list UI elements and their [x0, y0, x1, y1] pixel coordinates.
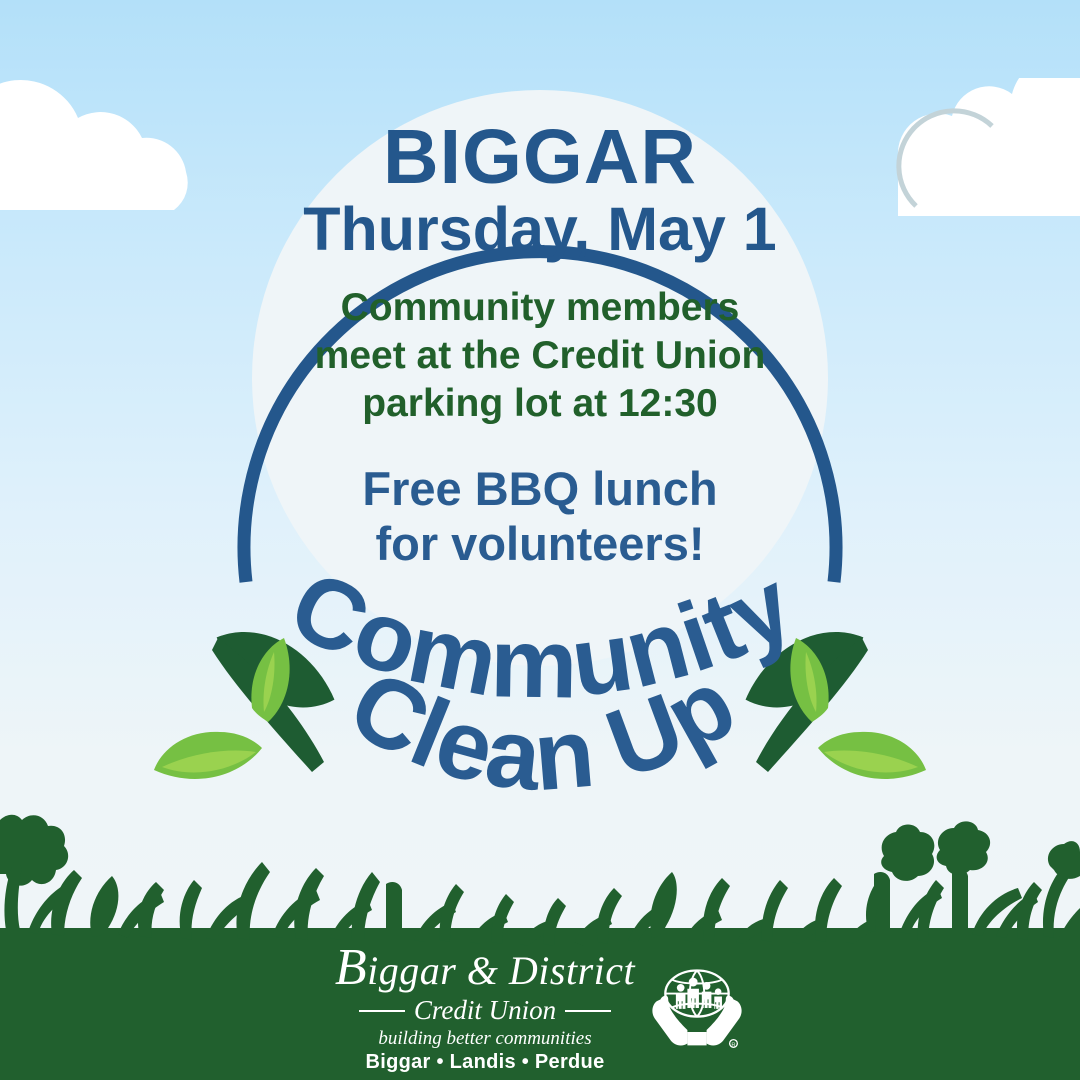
org-name-initial: B	[335, 939, 367, 996]
rule-left	[359, 1010, 405, 1012]
community-clean-up-poster: BIGGAR Thursday, May 1 Community members…	[0, 0, 1080, 1080]
org-name-rest: iggar & District	[367, 948, 635, 993]
branch-list: Biggar • Landis • Perdue	[335, 1052, 635, 1072]
credit-union-line: Credit Union	[335, 997, 635, 1024]
tagline: building better communities	[335, 1029, 635, 1048]
credit-union-text: Credit Union	[414, 997, 556, 1024]
rule-right	[565, 1010, 611, 1012]
footer-credit-union-logo: Biggar & District Credit Union building …	[0, 942, 1080, 1072]
credit-union-wordmark: Biggar & District Credit Union building …	[335, 942, 635, 1072]
org-name-line: Biggar & District	[335, 942, 635, 994]
svg-text:R: R	[732, 1042, 736, 1048]
logotype-line-1: Community	[274, 548, 808, 718]
hands-holding-globe-family-icon: R	[649, 959, 745, 1055]
